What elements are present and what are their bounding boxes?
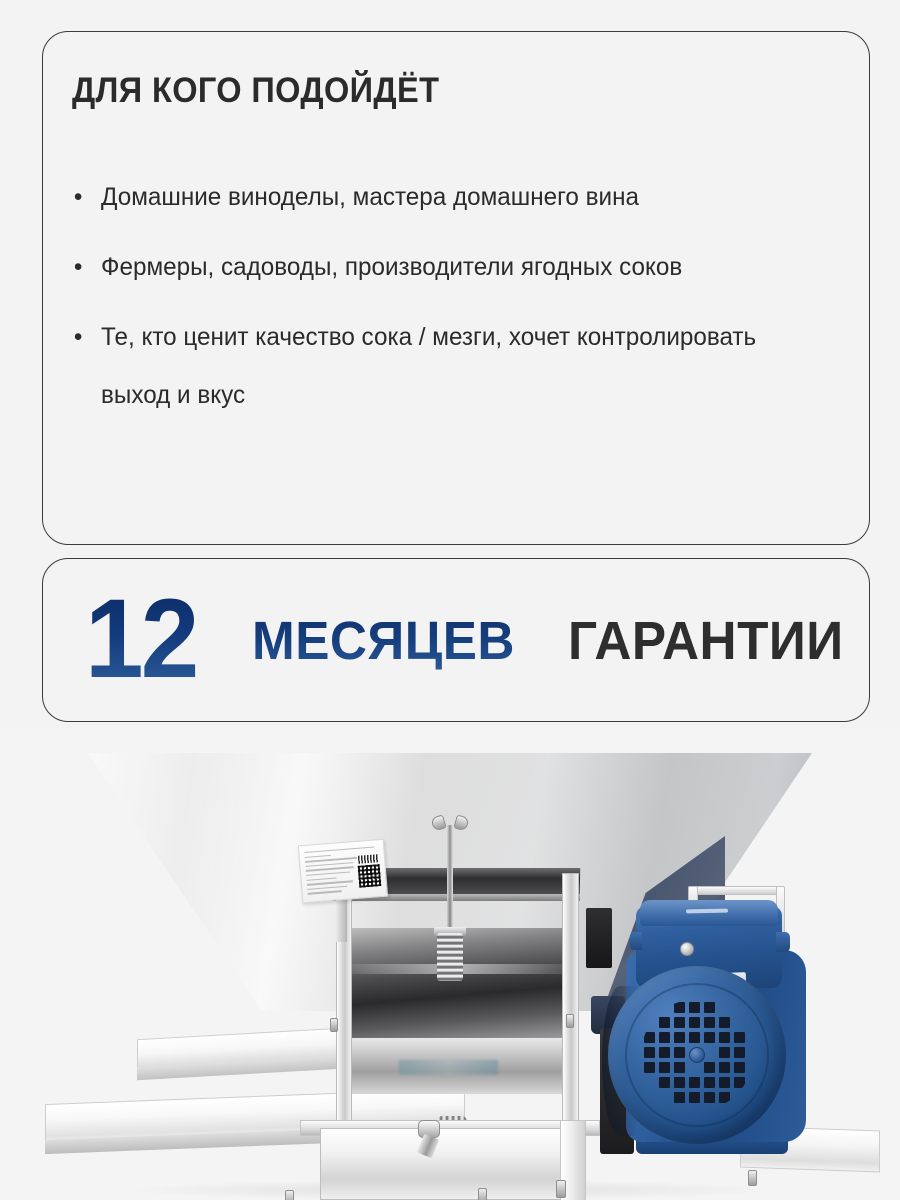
audience-card: ДЛЯ КОГО ПОДОЙДЁТ • Домашние виноделы, м… (42, 31, 870, 545)
grille-vent (689, 1092, 700, 1103)
eac-mark-icon (358, 854, 379, 864)
wing-nut-icon (432, 816, 468, 832)
grille-vent (659, 1077, 670, 1088)
bolt (566, 1014, 574, 1028)
warranty-row: 12 МЕСЯЦЕВ ГАРАНТИИ (43, 559, 871, 723)
warranty-guarantee-label: ГАРАНТИИ (568, 610, 844, 672)
audience-bullet-list: • Домашние виноделы, мастера домашнего в… (70, 168, 840, 436)
page-title: ДЛЯ КОГО ПОДОЙДЁТ (72, 71, 439, 111)
adjust-spring (437, 933, 463, 981)
grille-vent (674, 1077, 685, 1088)
bullet-dot-icon: • (74, 238, 81, 296)
motor-junction-box-slot (686, 909, 728, 914)
base-box (320, 1128, 582, 1200)
grille-vent (719, 1017, 730, 1028)
bolt (556, 1180, 566, 1198)
list-item: • Фермеры, садоводы, производители ягодн… (70, 238, 817, 296)
grille-vent (644, 1062, 655, 1073)
label-text-line (304, 846, 374, 853)
grille-vent (719, 1092, 730, 1103)
motor-junction-box-ear-right (776, 932, 790, 952)
label-text-line (308, 891, 342, 895)
warranty-number: 12 (85, 583, 196, 695)
grille-vent (734, 1032, 745, 1043)
grille-vent (704, 1002, 715, 1013)
label-text-line (305, 855, 331, 858)
grille-vent (674, 1017, 685, 1028)
qr-code-icon (358, 864, 382, 888)
grille-vent (704, 1062, 715, 1073)
grille-vent (674, 1047, 685, 1058)
motor-hub (689, 1047, 705, 1063)
wing-nut-right (453, 814, 469, 831)
grille-vent (659, 1047, 670, 1058)
bolt (478, 1188, 487, 1200)
grille-vent (689, 1032, 700, 1043)
grille-vent (659, 1032, 670, 1043)
grille-vent (734, 1077, 745, 1088)
grille-vent (689, 1002, 700, 1013)
grille-vent (719, 1062, 730, 1073)
lower-chamber (350, 1038, 568, 1094)
label-post (336, 898, 347, 942)
bullet-dot-icon: • (74, 168, 81, 226)
grille-vent (674, 1032, 685, 1043)
page-root: ДЛЯ КОГО ПОДОЙДЁТ • Домашние виноделы, м… (0, 0, 900, 1200)
list-item: • Те, кто ценит качество сока / мезги, х… (70, 308, 817, 424)
grille-vent (689, 1077, 700, 1088)
motor-bolt (680, 942, 694, 956)
frame-post-right (562, 873, 579, 1138)
list-item-label: Фермеры, садоводы, производители ягодных… (101, 238, 817, 296)
grille-vent (704, 1017, 715, 1028)
lower-chamber-tint (399, 1060, 498, 1075)
motor-junction-box-lid (640, 900, 778, 926)
list-item-label: Домашние виноделы, мастера домашнего вин… (101, 168, 817, 226)
grille-vent (674, 1092, 685, 1103)
grille-vent (704, 1032, 715, 1043)
label-text-line (307, 886, 347, 891)
grille-vent (674, 1062, 685, 1073)
warranty-card: 12 МЕСЯЦЕВ ГАРАНТИИ (42, 558, 870, 722)
grille-vent (719, 1032, 730, 1043)
grille-vent (644, 1047, 655, 1058)
bullet-dot-icon: • (74, 308, 81, 366)
list-item-label: Те, кто ценит качество сока / мезги, хоч… (101, 308, 817, 424)
grille-vent (659, 1062, 670, 1073)
grille-vent (734, 1047, 745, 1058)
bolt (285, 1190, 294, 1200)
bolt (748, 1170, 757, 1186)
grille-vent (674, 1002, 685, 1013)
bracket-arm-horizontal (688, 886, 784, 895)
grille-vent (704, 1092, 715, 1103)
bolt (330, 1018, 338, 1032)
grille-vent (719, 1047, 730, 1058)
motor-junction-box-ear-left (630, 932, 642, 950)
grille-vent (704, 1077, 715, 1088)
warranty-months-label: МЕСЯЦЕВ (252, 610, 515, 672)
label-text-line (306, 871, 350, 876)
label-text-line (307, 877, 337, 881)
list-item: • Домашние виноделы, мастера домашнего в… (70, 168, 817, 226)
grille-vent (644, 1032, 655, 1043)
motor-mount-block-upper (586, 908, 612, 968)
product-label-sticker (298, 839, 388, 904)
product-photo (0, 728, 900, 1200)
grille-vent (689, 1017, 700, 1028)
wing-nut-left (430, 814, 446, 831)
grille-vent (659, 1017, 670, 1028)
grille-vent (719, 1077, 730, 1088)
grille-vent (734, 1062, 745, 1073)
